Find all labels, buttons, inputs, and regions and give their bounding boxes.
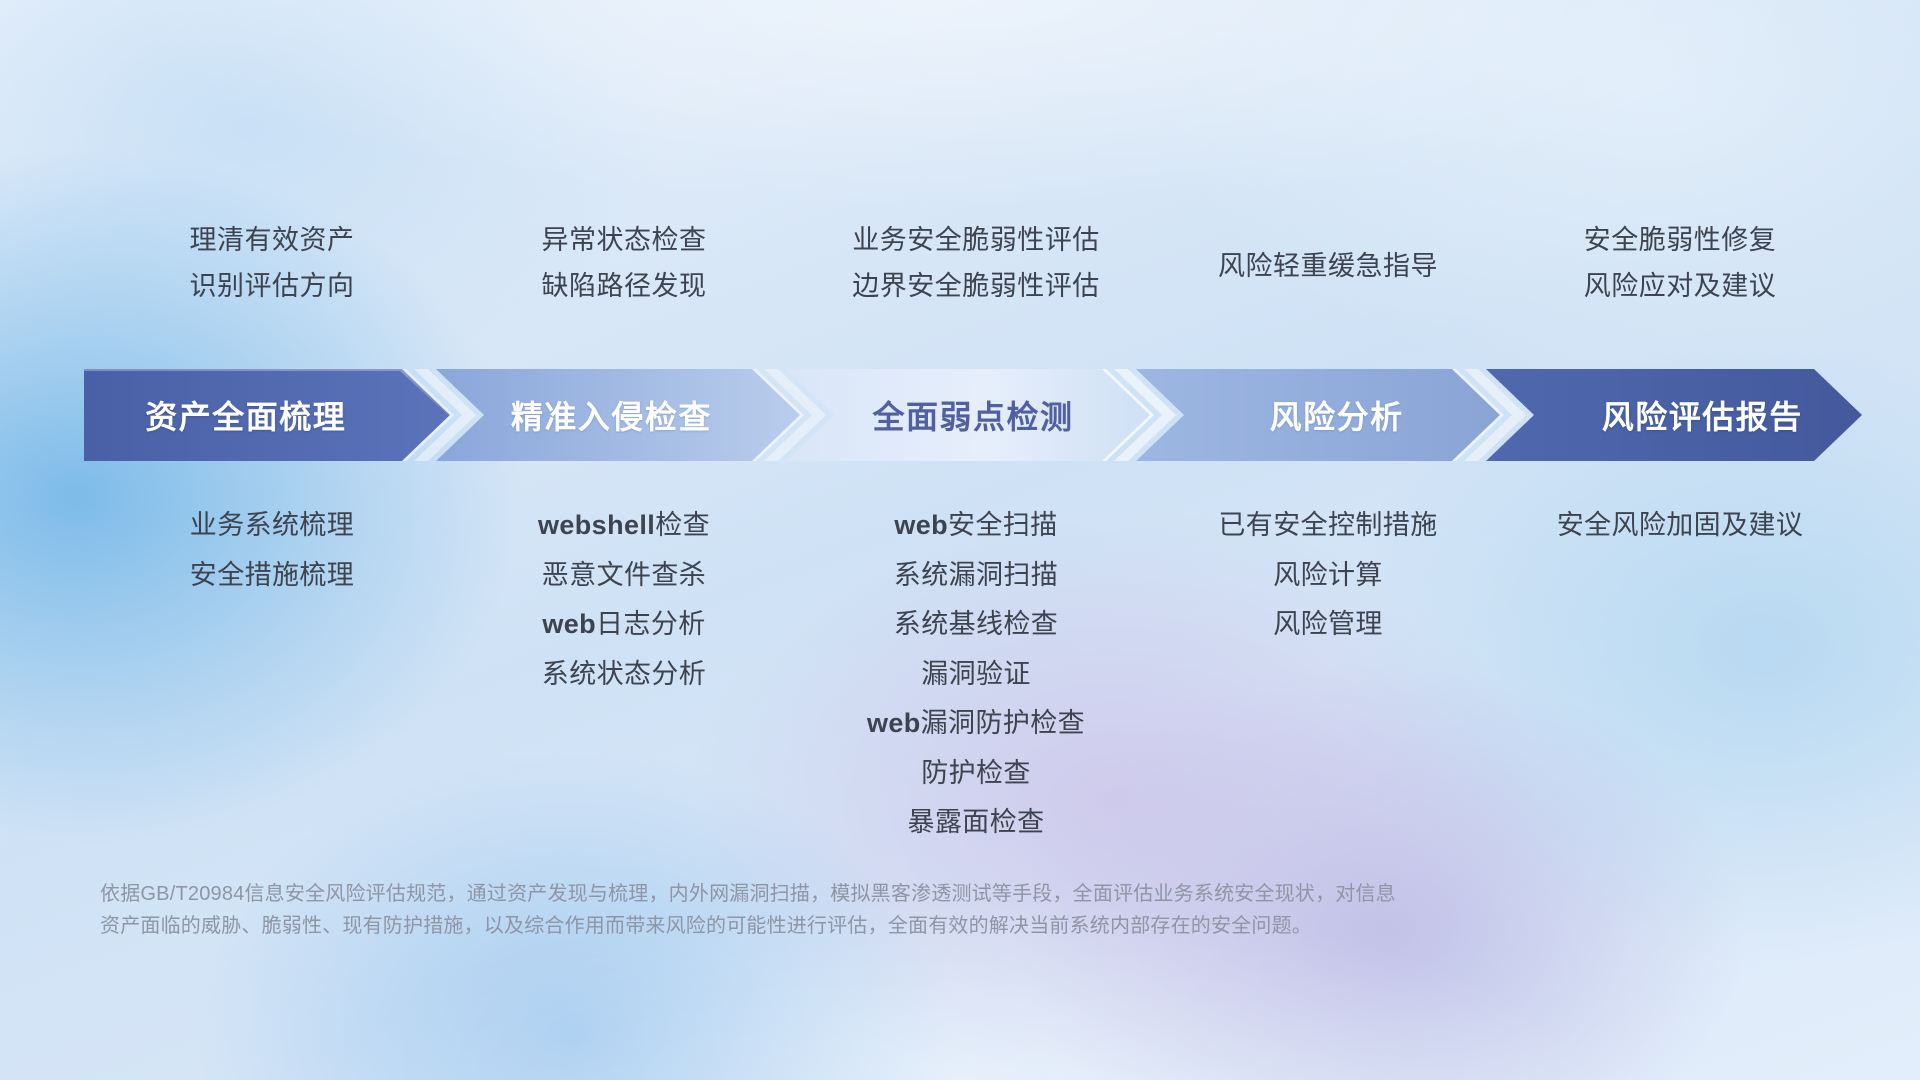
list-item: 安全措施梳理 [190,558,354,593]
bottom-items-row: 业务系统梳理 安全措施梳理 webshell检查 恶意文件查杀 web日志分析 … [96,508,1856,840]
list-item: web日志分析 [542,607,705,642]
list-item: 防护检查 [921,756,1031,791]
list-item: webshell检查 [538,508,710,543]
top-caption: 安全脆弱性修复 [1584,224,1777,258]
top-captions-stage-5: 安全脆弱性修复 风险应对及建议 [1504,224,1856,304]
top-caption: 异常状态检查 [542,224,707,258]
top-captions-stage-2: 异常状态检查 缺陷路径发现 [448,224,800,304]
footer-line-1: 依据GB/T20984信息安全风险评估规范，通过资产发现与梳理，内外网漏洞扫描，… [100,878,1620,910]
top-caption: 业务安全脆弱性评估 [852,224,1100,258]
list-item: 风险计算 [1273,558,1383,593]
list-item: 系统漏洞扫描 [894,558,1058,593]
top-caption: 识别评估方向 [190,270,355,304]
bottom-items-stage-4: 已有安全控制措施 风险计算 风险管理 [1152,508,1504,840]
top-captions-stage-3: 业务安全脆弱性评估 边界安全脆弱性评估 [800,224,1152,304]
list-item: 风险管理 [1273,607,1383,642]
footer-description: 依据GB/T20984信息安全风险评估规范，通过资产发现与梳理，内外网漏洞扫描，… [100,878,1620,943]
list-item: 系统状态分析 [542,657,706,692]
top-caption: 缺陷路径发现 [542,270,707,304]
slide-canvas: 理清有效资产 识别评估方向 异常状态检查 缺陷路径发现 业务安全脆弱性评估 边界… [0,0,1920,1080]
list-item: 已有安全控制措施 [1218,508,1437,543]
top-caption: 边界安全脆弱性评估 [852,270,1100,304]
bottom-items-stage-2: webshell检查 恶意文件查杀 web日志分析 系统状态分析 [448,508,800,840]
bottom-items-stage-1: 业务系统梳理 安全措施梳理 [96,508,448,840]
list-item: 业务系统梳理 [190,508,354,543]
top-captions-row: 理清有效资产 识别评估方向 异常状态检查 缺陷路径发现 业务安全脆弱性评估 边界… [96,224,1856,304]
list-item: 恶意文件查杀 [542,558,706,593]
top-captions-stage-4: 风险轻重缓急指导 [1152,224,1504,304]
list-item: 漏洞验证 [921,657,1031,692]
footer-line-2: 资产面临的威胁、脆弱性、现有防护措施，以及综合作用而带来风险的可能性进行评估，全… [100,910,1620,942]
top-caption: 风险应对及建议 [1584,270,1777,304]
process-arrow-banner: 资产全面梳理 精准入侵检查 全面弱点检测 风险分析 风险评估报告 [84,369,1862,461]
list-item: 暴露面检查 [908,805,1045,840]
bottom-items-stage-3: web安全扫描 系统漏洞扫描 系统基线检查 漏洞验证 web漏洞防护检查 防护检… [800,508,1152,840]
top-captions-stage-1: 理清有效资产 识别评估方向 [96,224,448,304]
bottom-items-stage-5: 安全风险加固及建议 [1504,508,1856,840]
list-item: 安全风险加固及建议 [1557,508,1804,543]
list-item: web安全扫描 [894,508,1057,543]
top-caption: 风险轻重缓急指导 [1218,250,1438,284]
list-item: web漏洞防护检查 [867,706,1085,741]
top-caption: 理清有效资产 [190,224,355,258]
list-item: 系统基线检查 [894,607,1058,642]
